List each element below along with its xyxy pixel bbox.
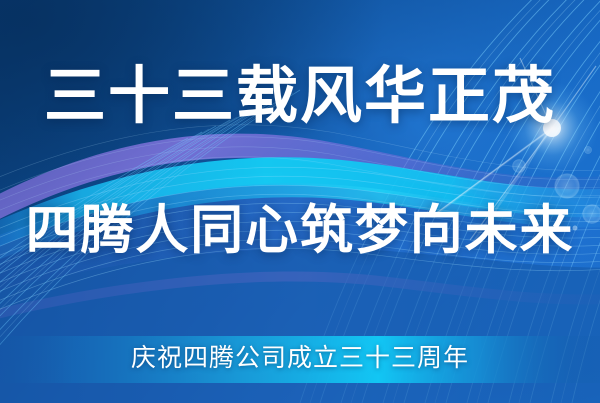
headline-line-1: 三十三载风华正茂 [0,66,600,128]
anniversary-banner: 三十三载风华正茂 四腾人同心筑梦向未来 庆祝四腾公司成立三十三周年 [0,0,600,403]
headline-line-2: 四腾人同心筑梦向未来 [0,200,600,262]
subtitle-text: 庆祝四腾公司成立三十三周年 [0,342,600,376]
